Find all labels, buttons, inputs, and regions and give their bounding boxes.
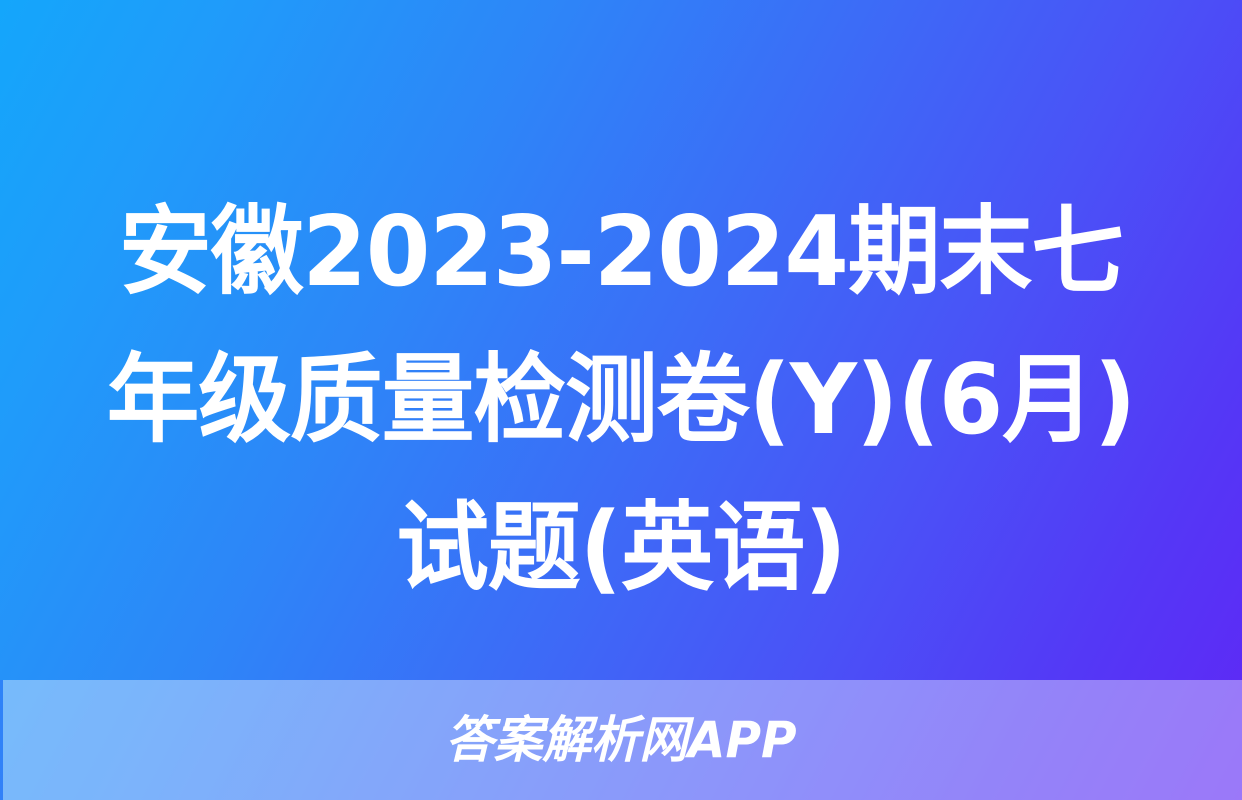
brand-banner: 答案解析网APP	[0, 680, 1242, 800]
title-line-1: 安徽2023-2024期末七	[28, 178, 1214, 326]
brand-name: 答案解析网APP	[445, 715, 796, 765]
poster-canvas: 安徽2023-2024期末七 年级质量检测卷(Y)(6月) 试题(英语) 答案解…	[0, 0, 1242, 800]
title-line-2: 年级质量检测卷(Y)(6月)	[28, 326, 1214, 474]
poster-title: 安徽2023-2024期末七 年级质量检测卷(Y)(6月) 试题(英语)	[0, 178, 1242, 622]
title-line-3: 试题(英语)	[28, 474, 1214, 622]
